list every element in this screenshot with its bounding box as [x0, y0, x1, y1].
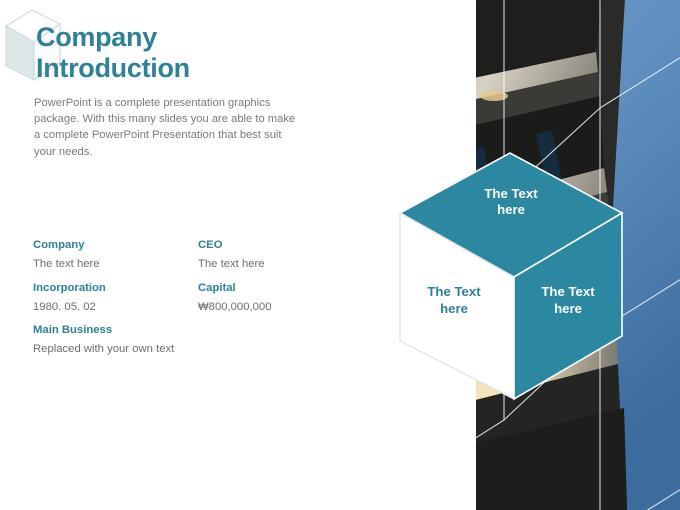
info-column-left: Company The text here Incorporation 1980… [33, 240, 198, 356]
info-value-capital: ₩800,000,000 [198, 302, 333, 313]
cube-face-left-line1: The Text [427, 284, 481, 299]
info-label-capital: Capital [198, 283, 333, 294]
page-title: Company Introduction [36, 22, 366, 84]
info-label-main-business: Main Business [33, 325, 198, 336]
info-value-incorporation: 1980. 05. 02 [33, 302, 198, 313]
cube-face-right-line2: here [554, 301, 582, 316]
cube-face-left-line2: here [440, 301, 468, 316]
info-column-right: CEO The text here Capital ₩800,000,000 [198, 240, 333, 313]
info-label-incorporation: Incorporation [33, 283, 198, 294]
cube-face-top-line2: here [497, 202, 525, 217]
body-paragraph: PowerPoint is a complete presentation gr… [34, 95, 296, 160]
presentation-slide: Company Introduction PowerPoint is a com… [0, 0, 680, 510]
cube-face-top-line1: The Text [484, 186, 538, 201]
title-line-1: Company [36, 22, 366, 53]
info-label-ceo: CEO [198, 240, 333, 251]
info-value-company: The text here [33, 259, 198, 270]
info-value-ceo: The text here [198, 259, 333, 270]
title-line-2: Introduction [36, 53, 366, 84]
cube-face-right-line1: The Text [541, 284, 595, 299]
info-value-main-business: Replaced with your own text [33, 344, 198, 355]
info-label-company: Company [33, 240, 198, 251]
isometric-cube-diagram: The Text here The Text here The Text her… [392, 150, 632, 402]
